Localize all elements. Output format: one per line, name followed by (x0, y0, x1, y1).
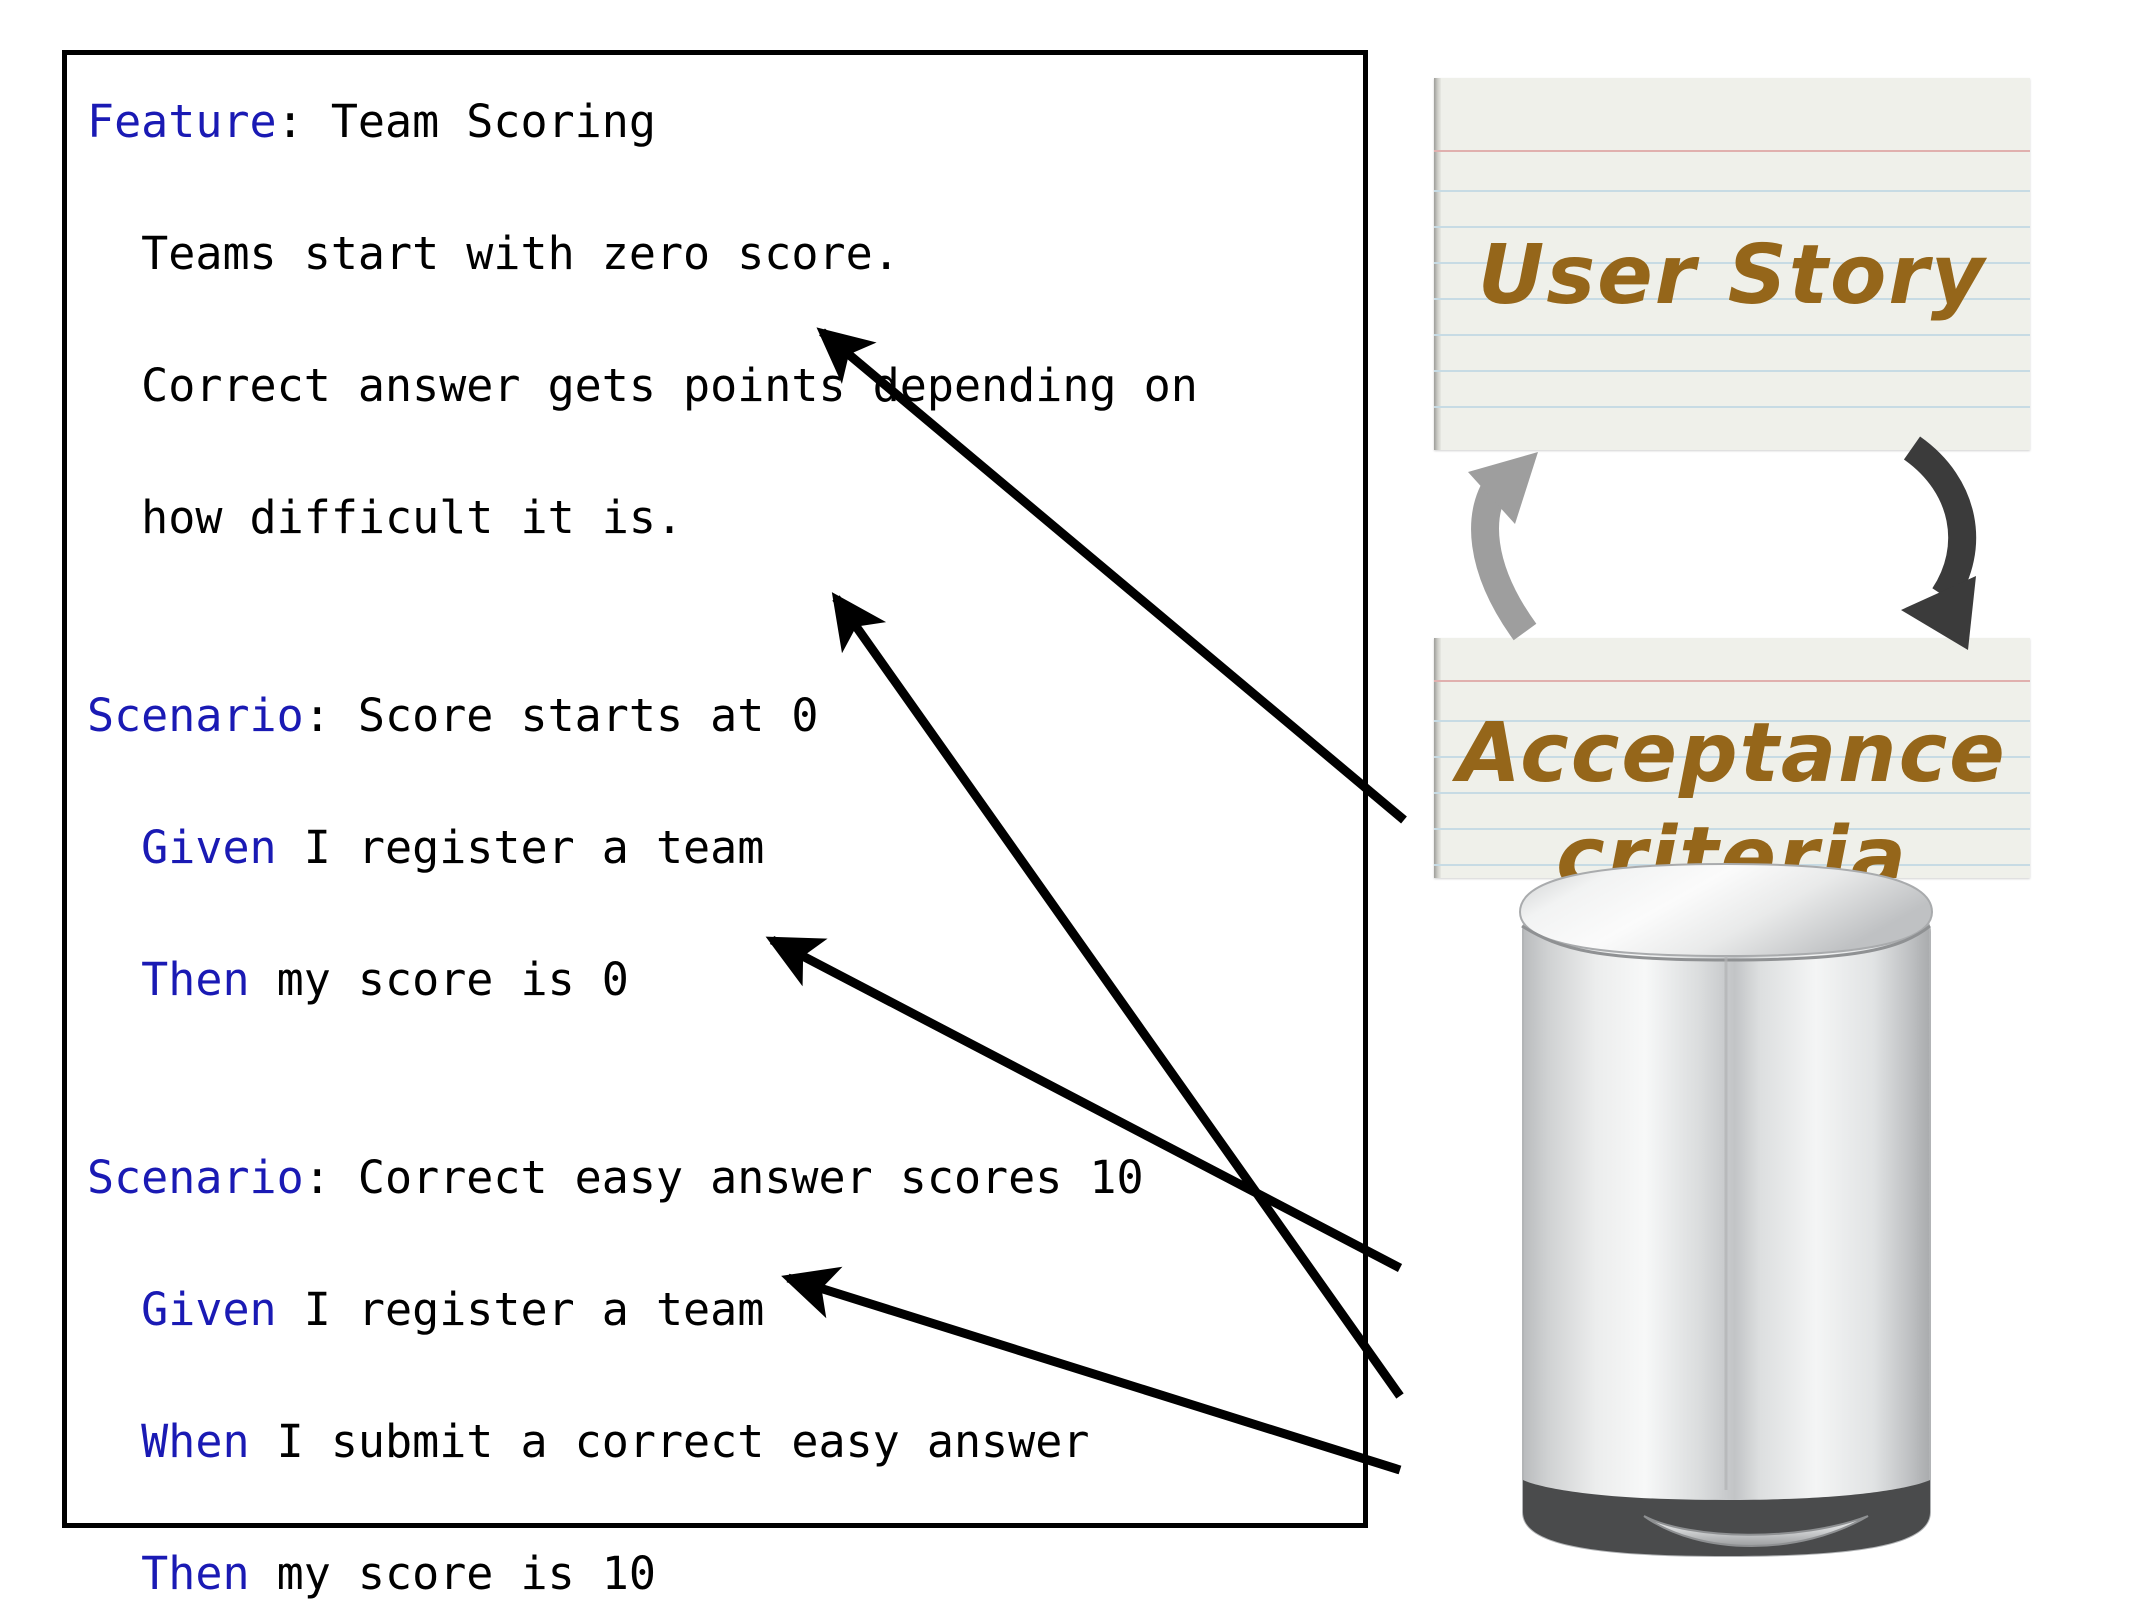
card-rule-line (1434, 406, 2030, 408)
gherkin-keyword: When (87, 1415, 250, 1468)
bin-pedal (1644, 1516, 1868, 1546)
gherkin-code-block: Feature: Team Scoring Teams start with z… (87, 89, 1357, 1600)
gherkin-line: Then my score is 0 (87, 947, 1357, 1013)
card-rule-line (1434, 190, 2030, 192)
acceptance-criteria-card[interactable]: Acceptance criteria (1434, 638, 2030, 878)
gherkin-line: Given I register a team (87, 1277, 1357, 1343)
gherkin-blank-line (87, 1079, 1357, 1145)
card-margin-rule (1434, 680, 2030, 682)
gherkin-step-text: : Score starts at 0 (304, 689, 819, 742)
gherkin-keyword: Then (87, 1547, 250, 1600)
gherkin-keyword: Scenario (87, 1151, 304, 1204)
gherkin-blank-line (87, 617, 1357, 683)
gherkin-description-text: Teams start with zero score. (87, 227, 900, 280)
gherkin-keyword: Feature (87, 95, 277, 148)
acceptance-criteria-card-label-line2: criteria (1434, 810, 2030, 878)
gherkin-feature-box: Feature: Team Scoring Teams start with z… (62, 50, 1368, 1528)
gherkin-step-text: my score is 10 (250, 1547, 656, 1600)
card-rule-line (1434, 370, 2030, 372)
gherkin-step-text: : Correct easy answer scores 10 (304, 1151, 1144, 1204)
gherkin-line: Teams start with zero score. (87, 221, 1357, 287)
gherkin-line: how difficult it is. (87, 485, 1357, 551)
bin-body (1523, 902, 1930, 1556)
card-rule-line (1434, 334, 2030, 336)
stainless-steel-trash-bin[interactable] (1520, 864, 1932, 1556)
gherkin-line: Feature: Team Scoring (87, 89, 1357, 155)
acceptance-criteria-card-label-line1: Acceptance (1434, 706, 2030, 801)
gherkin-description-text: Correct answer gets points depending on (87, 359, 1198, 412)
gherkin-line: Scenario: Score starts at 0 (87, 683, 1357, 749)
gherkin-keyword: Scenario (87, 689, 304, 742)
user-story-card-label: User Story (1434, 228, 2030, 323)
grey-curved-arrow-up (1468, 452, 1538, 632)
gherkin-line: Scenario: Correct easy answer scores 10 (87, 1145, 1357, 1211)
gherkin-keyword: Given (87, 821, 277, 874)
card-margin-rule (1434, 150, 2030, 152)
gherkin-line: Then my score is 10 (87, 1541, 1357, 1600)
bin-base (1523, 1480, 1930, 1556)
gherkin-step-text: I submit a correct easy answer (250, 1415, 1090, 1468)
gherkin-line: Correct answer gets points depending on (87, 353, 1357, 419)
gherkin-step-text: : Team Scoring (277, 95, 656, 148)
gherkin-keyword: Given (87, 1283, 277, 1336)
gherkin-step-text: my score is 0 (250, 953, 629, 1006)
user-story-card[interactable]: User Story (1434, 78, 2030, 450)
dark-curved-arrow-down (1901, 448, 1976, 650)
bin-lid-seam (1522, 926, 1930, 960)
gherkin-keyword: Then (87, 953, 250, 1006)
gherkin-line: Given I register a team (87, 815, 1357, 881)
gherkin-line: When I submit a correct easy answer (87, 1409, 1357, 1475)
gherkin-description-text: how difficult it is. (87, 491, 683, 544)
gherkin-step-text: I register a team (277, 821, 765, 874)
slide-canvas: Feature: Team Scoring Teams start with z… (0, 0, 2133, 1600)
gherkin-step-text: I register a team (277, 1283, 765, 1336)
